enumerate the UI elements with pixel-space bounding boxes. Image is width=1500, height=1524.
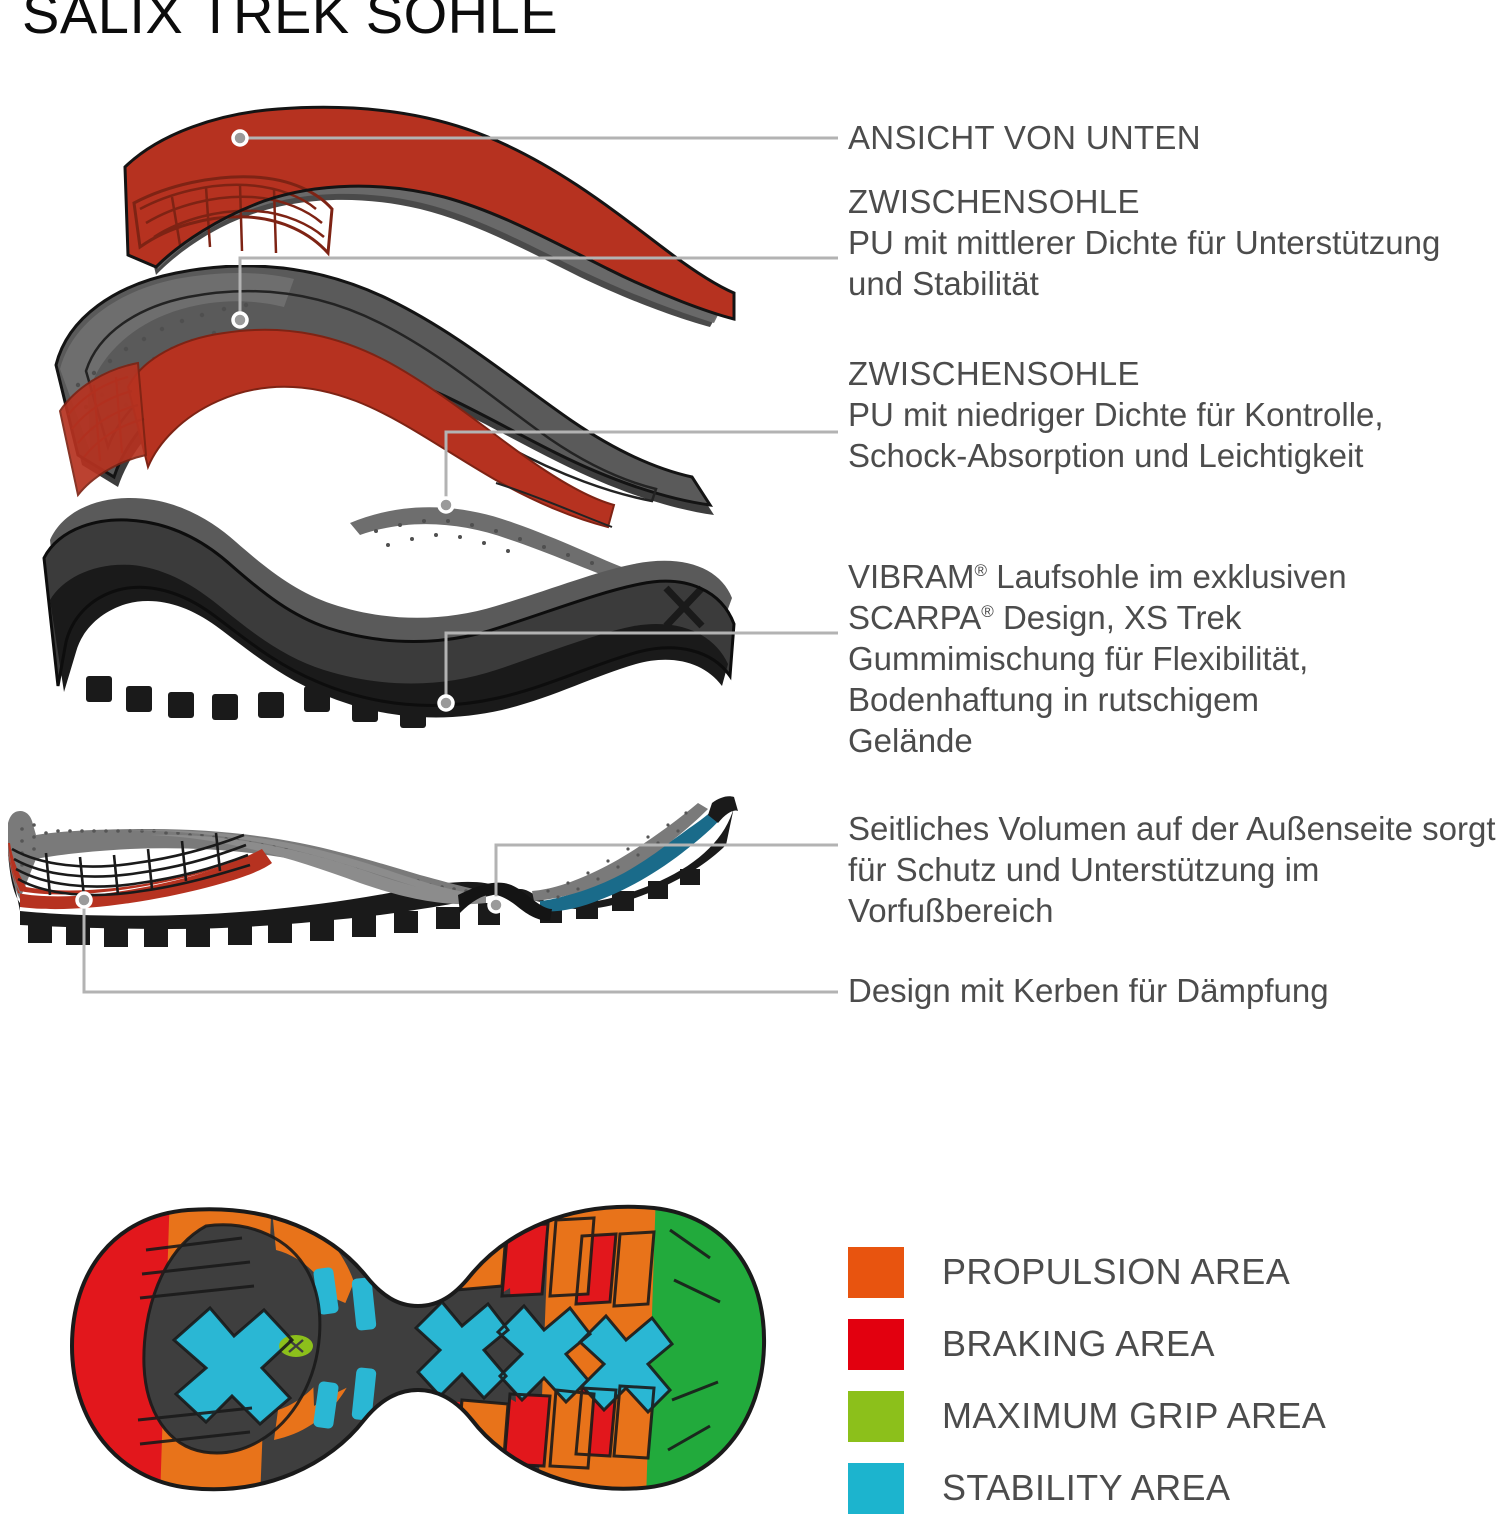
vibram-brand: VIBRAM [848, 558, 975, 595]
legend-swatch-propulsion [848, 1247, 904, 1298]
legend-swatch-maximum-grip [848, 1391, 904, 1442]
side-profile-view [0, 795, 780, 960]
legend-item-maximum-grip: MAXIMUM GRIP AREA [848, 1380, 1498, 1452]
vibram-line2-rest: Design, XS Trek [994, 599, 1242, 636]
registered-trademark-icon: ® [975, 561, 988, 580]
legend-label-propulsion: PROPULSION AREA [942, 1252, 1290, 1292]
callout-vibram-laufsohle: VIBRAM® Laufsohle im exklusiven SCARPA® … [848, 556, 1498, 761]
callout-body: Seitliches Volumen auf der Außenseite so… [848, 808, 1498, 931]
callout-body: PU mit niedriger Dichte für Kontrolle, S… [848, 394, 1498, 476]
callout-body: Design mit Kerben für Dämpfung [848, 970, 1498, 1011]
tread-bottom-view [10, 1190, 770, 1500]
legend-item-braking: BRAKING AREA [848, 1308, 1498, 1380]
tread-zone-legend: PROPULSION AREA BRAKING AREA MAXIMUM GRI… [848, 1236, 1498, 1524]
vibram-line4: Bodenhaftung in rutschigem [848, 681, 1259, 718]
legend-swatch-stability [848, 1463, 904, 1514]
callout-heading: ZWISCHENSOHLE [848, 354, 1498, 394]
callout-body: VIBRAM® Laufsohle im exklusiven SCARPA® … [848, 556, 1498, 761]
callout-ansicht-von-unten: ANSICHT VON UNTEN [848, 118, 1498, 158]
callout-zwischensohle-niedrige-dichte: ZWISCHENSOHLE PU mit niedriger Dichte fü… [848, 354, 1498, 476]
callout-zwischensohle-mittlere-dichte: ZWISCHENSOHLE PU mit mittlerer Dichte fü… [848, 182, 1498, 304]
legend-swatch-braking [848, 1319, 904, 1370]
callout-design-mit-kerben: Design mit Kerben für Dämpfung [848, 970, 1498, 1011]
vibram-line3: Gummimischung für Flexibilität, [848, 640, 1308, 677]
callout-heading: ZWISCHENSOHLE [848, 182, 1498, 222]
legend-label-braking: BRAKING AREA [942, 1324, 1215, 1364]
vibram-line1-rest: Laufsohle im exklusiven [987, 558, 1347, 595]
legend-item-stability: STABILITY AREA [848, 1452, 1498, 1524]
callout-body: PU mit mittlerer Dichte für Unterstützun… [848, 222, 1498, 304]
legend-item-propulsion: PROPULSION AREA [848, 1236, 1498, 1308]
scarpa-brand: SCARPA [848, 599, 981, 636]
vibram-line5: Gelände [848, 722, 973, 759]
callout-heading: ANSICHT VON UNTEN [848, 118, 1498, 158]
legend-label-stability: STABILITY AREA [942, 1468, 1230, 1508]
exploded-outsole-bottom [20, 480, 740, 740]
legend-label-maximum-grip: MAXIMUM GRIP AREA [942, 1396, 1326, 1436]
registered-trademark-icon: ® [981, 602, 994, 621]
sole-diagram-column [0, 0, 840, 1500]
callout-seitliches-volumen: Seitliches Volumen auf der Außenseite so… [848, 808, 1498, 931]
